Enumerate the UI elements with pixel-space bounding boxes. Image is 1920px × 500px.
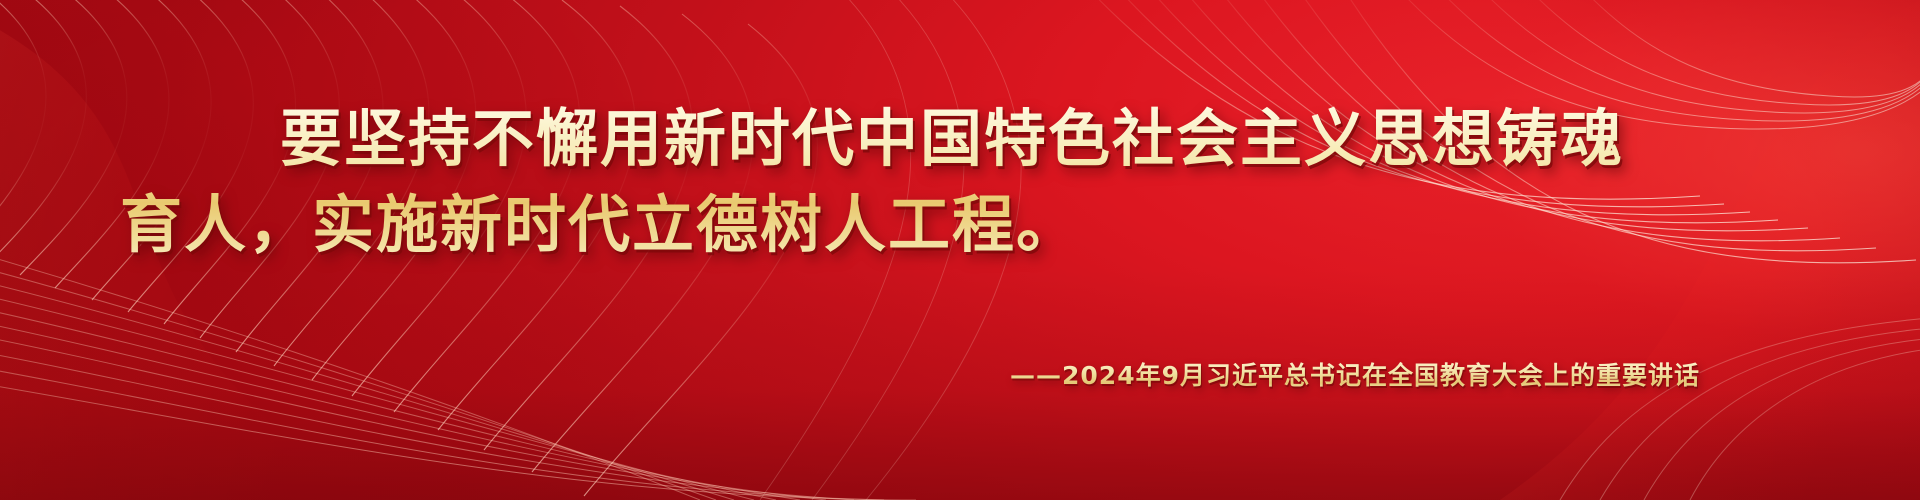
quote-text: 要坚持不懈用新时代中国特色社会主义思想铸魂 育人，实施新时代立德树人工程。 [120, 96, 1680, 268]
quote-line-1: 要坚持不懈用新时代中国特色社会主义思想铸魂 [120, 96, 1680, 182]
quote-attribution: ——2024年9月习近平总书记在全国教育大会上的重要讲话 [120, 356, 1700, 392]
quote-line-2: 育人，实施新时代立德树人工程。 [120, 182, 1680, 268]
propaganda-banner: 要坚持不懈用新时代中国特色社会主义思想铸魂 育人，实施新时代立德树人工程。 ——… [0, 0, 1920, 500]
banner-content: 要坚持不懈用新时代中国特色社会主义思想铸魂 育人，实施新时代立德树人工程。 ——… [0, 0, 1920, 500]
